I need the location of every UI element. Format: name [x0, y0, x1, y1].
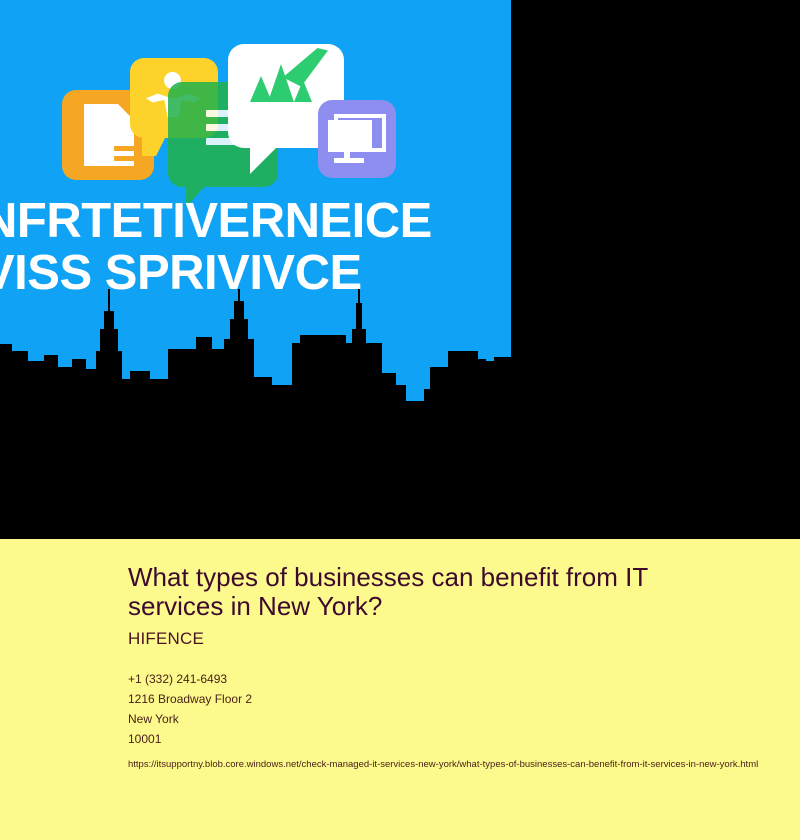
- chart-graphic-icon: [244, 58, 334, 104]
- new-york-skyline-silhouette-icon: [0, 289, 511, 539]
- hero-headline-line-1: NFRTETIVERNEICE: [0, 195, 511, 247]
- chart-peak-icon: [250, 76, 272, 102]
- hero-banner: NFRTETIVERNEICE VISS SPRIVIVCE: [0, 0, 800, 539]
- icon-cluster: [0, 0, 511, 200]
- monitor-tile-icon: [318, 100, 396, 178]
- monitor-base-icon: [334, 158, 364, 163]
- monitor-screen-icon: [328, 120, 372, 152]
- document-line-icon: [114, 156, 146, 161]
- page-title: What types of businesses can benefit fro…: [128, 563, 698, 621]
- page-root: NFRTETIVERNEICE VISS SPRIVIVCE What type…: [0, 0, 800, 840]
- brand-name: HIFENCE: [128, 628, 784, 649]
- speech-tail-icon: [250, 144, 280, 174]
- hero-artwork: NFRTETIVERNEICE VISS SPRIVIVCE: [0, 0, 511, 539]
- hero-headline: NFRTETIVERNEICE VISS SPRIVIVCE: [0, 195, 511, 299]
- source-url[interactable]: https://itsupportny.blob.core.windows.ne…: [128, 756, 783, 774]
- info-panel: What types of businesses can benefit fro…: [0, 539, 800, 840]
- contact-phone[interactable]: +1 (332) 241-6493: [128, 669, 784, 689]
- contact-block: +1 (332) 241-6493 1216 Broadway Floor 2 …: [128, 669, 784, 749]
- contact-postal-code: 10001: [128, 729, 784, 749]
- speech-tail-icon: [142, 136, 166, 156]
- info-content: What types of businesses can benefit fro…: [128, 563, 784, 774]
- chart-peak-icon: [268, 64, 294, 102]
- contact-city: New York: [128, 709, 784, 729]
- contact-street: 1216 Broadway Floor 2: [128, 689, 784, 709]
